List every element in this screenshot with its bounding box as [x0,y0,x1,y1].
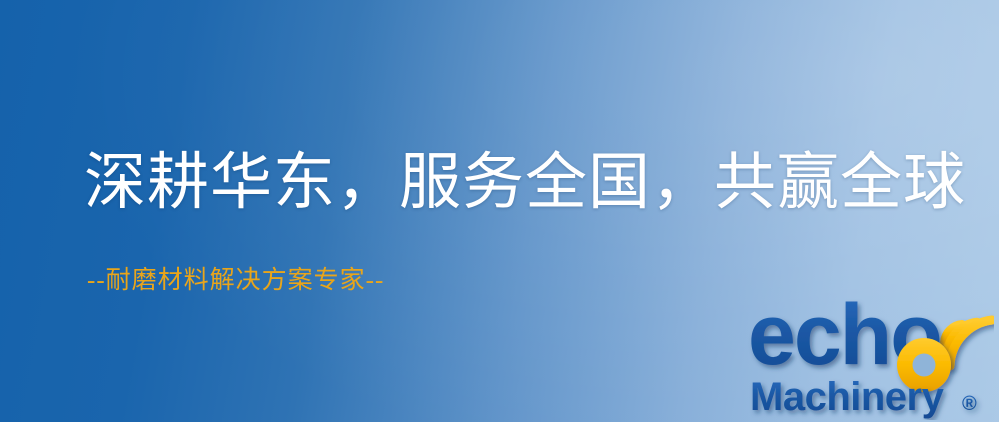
banner-headline: 深耕华东，服务全国，共赢全球 [84,152,966,214]
echo-machinery-logo[interactable]: echo Machinery ® [748,292,994,420]
hero-banner: 深耕华东，服务全国，共赢全球 --耐磨材料解决方案专家-- [0,0,999,422]
banner-subtitle: --耐磨材料解决方案专家-- [87,268,384,293]
logo-subwordmark-machinery: Machinery [750,375,945,419]
logo-trademark-symbol: ® [962,393,977,415]
echo-wave-arcs [944,320,992,366]
